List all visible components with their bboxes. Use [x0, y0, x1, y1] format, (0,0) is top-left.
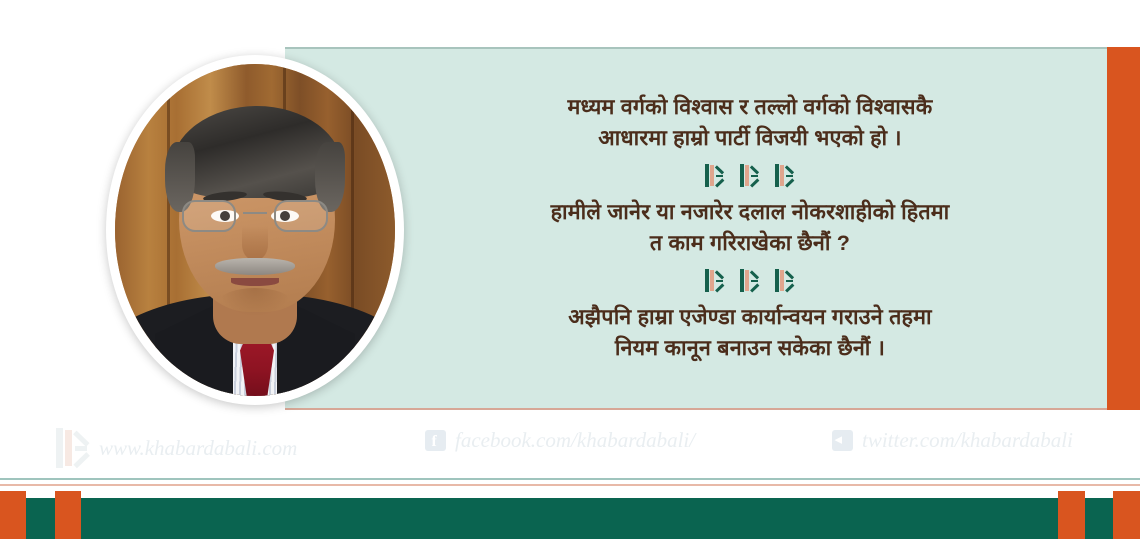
quote-separator-1	[410, 164, 1090, 187]
nose	[242, 226, 268, 260]
mouth	[231, 278, 279, 286]
quote-paragraph-1: मध्यम वर्गको विश्वास र तल्लो वर्गको विश्…	[410, 92, 1090, 153]
orange-accent-block	[0, 491, 26, 539]
quote-text-block: मध्यम वर्गको विश्वास र तल्लो वर्गको विश्…	[410, 92, 1090, 363]
k-ornament-icon	[775, 269, 796, 292]
quote-line: नियम कानून बनाउन सकेका छैनौं ।	[615, 336, 885, 360]
quote-separator-2	[410, 269, 1090, 292]
bottom-bar	[0, 498, 1140, 539]
quote-line: हामीले जानेर या नजारेर दलाल नोकरशाहीको ह…	[551, 200, 950, 224]
website-link[interactable]: www.khabardabali.com	[56, 428, 297, 468]
twitter-bird-icon: ◂	[832, 430, 853, 451]
k-ornament-icon	[705, 269, 726, 292]
portrait-frame	[106, 55, 404, 405]
facebook-link-label: facebook.com/khabardabali/	[455, 428, 695, 453]
k-ornament-icon	[740, 269, 761, 292]
mustache	[215, 258, 295, 275]
lens-left	[182, 200, 236, 232]
k-ornament-icon	[740, 164, 761, 187]
quote-paragraph-2: हामीले जानेर या नजारेर दलाल नोकरशाहीको ह…	[410, 197, 1090, 258]
facebook-icon: f	[425, 430, 446, 451]
orange-accent-block	[1113, 491, 1140, 539]
facebook-link[interactable]: f facebook.com/khabardabali/	[425, 428, 695, 453]
chin-shadow	[219, 288, 291, 316]
k-ornament-icon	[775, 164, 796, 187]
divider-rule-salmon	[0, 484, 1140, 486]
quote-line: त काम गरिराखेका छैनौं ?	[650, 231, 850, 255]
glasses-bridge	[243, 212, 267, 214]
orange-accent-block	[1058, 491, 1085, 539]
website-link-label: www.khabardabali.com	[99, 436, 297, 461]
lens-right	[274, 200, 328, 232]
portrait-image	[115, 64, 395, 396]
facebook-glyph: f	[432, 432, 437, 451]
twitter-link-label: twitter.com/khabardabali	[862, 428, 1073, 453]
quote-paragraph-3: अझैपनि हाम्रा एजेण्डा कार्यान्वयन गराउने…	[410, 302, 1090, 363]
quote-line: मध्यम वर्गको विश्वास र तल्लो वर्गको विश्…	[567, 95, 932, 119]
footer-links: www.khabardabali.com f facebook.com/khab…	[0, 418, 1140, 474]
quote-line: अझैपनि हाम्रा एजेण्डा कार्यान्वयन गराउने…	[568, 305, 932, 329]
orange-accent-block	[55, 491, 81, 539]
right-edge-accent-stripe	[1107, 47, 1140, 410]
twitter-link[interactable]: ◂ twitter.com/khabardabali	[832, 428, 1073, 453]
k-ornament-icon	[705, 164, 726, 187]
divider-rule-teal	[0, 478, 1140, 480]
quote-line: आधारमा हाम्रो पार्टी विजयी भएको हो ।	[598, 126, 902, 150]
twitter-glyph: ◂	[835, 430, 843, 451]
khabardabali-k-logo-icon	[56, 428, 90, 468]
